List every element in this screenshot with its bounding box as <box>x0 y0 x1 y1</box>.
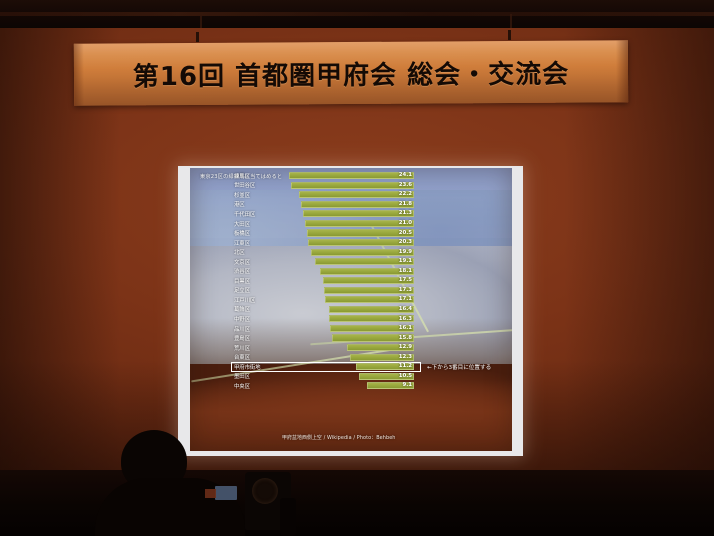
chart-bar-track: 16.4 <box>286 305 464 315</box>
chart-bar-value: 20.3 <box>399 239 412 246</box>
chart-bar-track: 22.2 <box>286 190 464 200</box>
chart-bar-value: 10.5 <box>399 373 412 380</box>
chart-row: 墨田区10.5 <box>234 371 464 381</box>
chart-row: 北区19.9 <box>234 247 464 257</box>
chart-bar-value: 12.3 <box>399 354 412 361</box>
chart-row: 世田谷区23.6 <box>234 181 464 191</box>
chart-row: 中央区9.1 <box>234 381 464 391</box>
ceiling-beam <box>0 12 714 16</box>
camera-lens <box>252 478 278 504</box>
chart-bar-track: 17.1 <box>286 295 464 305</box>
chart-bar-value: 21.8 <box>399 201 412 208</box>
chart-bar-value: 17.3 <box>399 287 412 294</box>
chart-row: 中野区16.3 <box>234 314 464 324</box>
audience-silhouette <box>95 430 245 536</box>
chart-row: 品川区16.1 <box>234 324 464 334</box>
chart-bar <box>303 210 414 217</box>
chart-bar-track: 19.9 <box>286 247 464 257</box>
chart-bar-track: 17.5 <box>286 276 464 286</box>
chart-row: 大田区21.0 <box>234 219 464 229</box>
chart-bar-track: 16.1 <box>286 324 464 334</box>
chart-row-label: 世田谷区 <box>234 181 286 189</box>
chart-bar-value: 19.9 <box>399 249 412 256</box>
chart-row-label: 台東区 <box>234 353 286 361</box>
chart-row-label: 杉並区 <box>234 191 286 199</box>
ceiling-rod <box>510 14 512 28</box>
chart-bar-value: 12.9 <box>399 344 412 351</box>
chart-row-label: 目黒区 <box>234 277 286 285</box>
event-banner: 第16回 首都圏甲府会 総会・交流会 <box>74 40 628 105</box>
chart-bar-track: 19.1 <box>286 257 464 267</box>
chart-row-label: 中野区 <box>234 315 286 323</box>
chart-bar-track: 18.1 <box>286 266 464 276</box>
banner-hook <box>196 32 199 42</box>
chart-bar <box>291 182 414 189</box>
chart-row: 荒川区12.9 <box>234 343 464 353</box>
chart-row: 足立区17.3 <box>234 286 464 296</box>
chart-row-label: 練馬区 <box>234 172 286 180</box>
chart-row: 文京区19.1 <box>234 257 464 267</box>
camera-lcd-reflection <box>205 489 216 498</box>
chart-row-label: 文京区 <box>234 258 286 266</box>
chart-row-label: 葛飾区 <box>234 305 286 313</box>
chart-bar-track: 21.0 <box>286 219 464 229</box>
banner-fold-right <box>616 40 628 102</box>
chart-row: 目黒区17.5 <box>234 276 464 286</box>
chart-row: 葛飾区16.4 <box>234 305 464 315</box>
chart-bar-value: 16.1 <box>399 325 412 332</box>
chart-row: 杉並区22.2 <box>234 190 464 200</box>
chart-row-label: 港区 <box>234 200 286 208</box>
chart-bar-track: 12.9 <box>286 343 464 353</box>
chart-bar-value: 18.1 <box>399 268 412 275</box>
green-coverage-chart: 東京23区の緑被率に当てはめると 練馬区24.1世田谷区23.6杉並区22.2港… <box>190 168 512 451</box>
chart-row-label: 北区 <box>234 248 286 256</box>
chart-bar-track: 11.2 <box>286 362 464 372</box>
chart-bar-value: 21.0 <box>399 220 412 227</box>
chart-bar-value: 23.6 <box>399 182 412 189</box>
chart-bar-value: 20.5 <box>399 230 412 237</box>
chart-bar-track: 20.5 <box>286 228 464 238</box>
slide-credit: 甲府盆地西側上空 / Wikipedia / Photo：Behbeh <box>282 434 396 441</box>
chart-row: 豊島区15.8 <box>234 333 464 343</box>
chart-bar-track: 20.3 <box>286 238 464 248</box>
chart-bar <box>299 191 414 198</box>
chart-bar-track: 23.6 <box>286 181 464 191</box>
chart-row: 板橋区20.5 <box>234 228 464 238</box>
chart-row-label: 中央区 <box>234 382 286 390</box>
chart-row-list: 練馬区24.1世田谷区23.6杉並区22.2港区21.8千代田区21.3大田区2… <box>234 171 464 391</box>
chart-bar-value: 17.5 <box>399 277 412 284</box>
chart-row-label: 豊島区 <box>234 334 286 342</box>
chart-row: 練馬区24.1 <box>234 171 464 181</box>
chart-row: 台東区12.3 <box>234 352 464 362</box>
chart-bar-value: 19.1 <box>399 258 412 265</box>
chart-row: 千代田区21.3 <box>234 209 464 219</box>
chart-row: 港区21.8 <box>234 200 464 210</box>
banner-title: 第16回 首都圏甲府会 総会・交流会 <box>133 53 570 93</box>
chart-row-label: 足立区 <box>234 286 286 294</box>
chart-row-label: 渋谷区 <box>234 267 286 275</box>
chart-bar-track: 24.1 <box>286 171 464 181</box>
chart-bar-value: 22.2 <box>399 191 412 198</box>
chart-row: 甲府市街地←下から3番目に位置する11.2 <box>234 362 464 372</box>
banner-hook <box>508 30 511 40</box>
chart-bar <box>289 172 414 179</box>
banner-fold-left <box>74 44 84 106</box>
chart-bar-track: 21.3 <box>286 209 464 219</box>
chart-row: 江戸川区17.1 <box>234 295 464 305</box>
chart-row: 江東区20.3 <box>234 238 464 248</box>
chart-row-label: 大田区 <box>234 220 286 228</box>
chart-bar-value: 21.3 <box>399 210 412 217</box>
chart-bar <box>301 201 414 208</box>
chart-bar-track: 9.1 <box>286 381 464 391</box>
chart-bar-track: 17.3 <box>286 286 464 296</box>
chart-row-label: 江戸川区 <box>234 296 286 304</box>
camera-lcd-screen <box>215 486 237 500</box>
chart-bar-track: 21.8 <box>286 200 464 210</box>
chart-bar-track: 16.3 <box>286 314 464 324</box>
chart-row-label: 墨田区 <box>234 372 286 380</box>
chart-bar <box>305 220 414 227</box>
chart-bar-value: 15.8 <box>399 335 412 342</box>
photo-scene: 第16回 首都圏甲府会 総会・交流会 東京23区の緑被率に当てはめると 練馬区2… <box>0 0 714 536</box>
chart-bar-track: 15.8 <box>286 333 464 343</box>
chart-row-label: 江東区 <box>234 239 286 247</box>
camera-grip <box>280 498 296 536</box>
chart-bar-value: 24.1 <box>399 172 412 179</box>
chart-bar-value: 16.3 <box>399 316 412 323</box>
chart-bar-value: 11.2 <box>399 363 412 370</box>
chart-bar-track: 12.3 <box>286 352 464 362</box>
chart-bar-value: 16.4 <box>399 306 412 313</box>
chart-row: 渋谷区18.1 <box>234 266 464 276</box>
projected-slide: 東京23区の緑被率に当てはめると 練馬区24.1世田谷区23.6杉並区22.2港… <box>190 168 512 451</box>
chart-bar-value: 9.1 <box>402 382 412 389</box>
chart-row-label: 品川区 <box>234 325 286 333</box>
chart-row-label: 荒川区 <box>234 344 286 352</box>
chart-row-label: 板橋区 <box>234 229 286 237</box>
chart-bar-track: 10.5 <box>286 371 464 381</box>
chart-row-label: 千代田区 <box>234 210 286 218</box>
chart-bar-value: 17.1 <box>399 296 412 303</box>
